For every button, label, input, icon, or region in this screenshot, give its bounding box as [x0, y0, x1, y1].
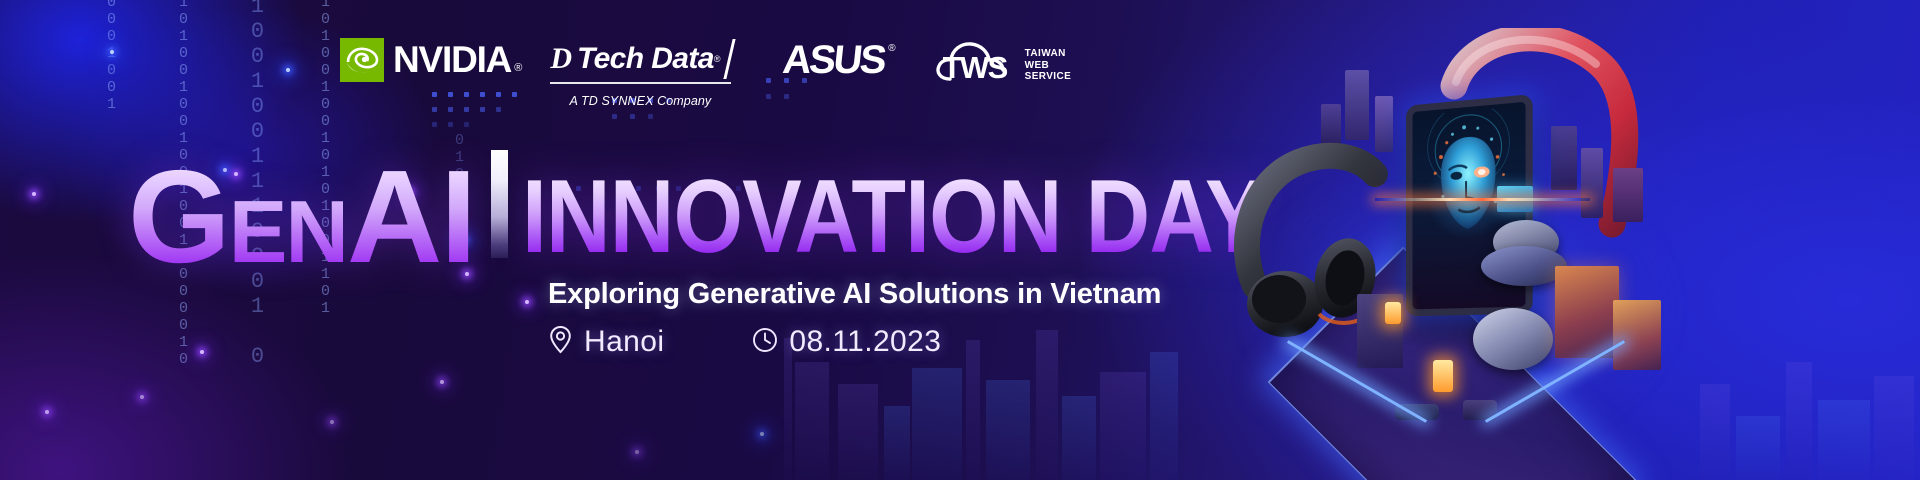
server-rack — [1555, 266, 1619, 358]
event-date: 08.11.2023 — [752, 325, 941, 359]
genai-wordmark: GENAI — [128, 164, 475, 270]
nvidia-wordmark: NVIDIA ® — [393, 40, 522, 80]
tech-data-trademark: ® — [714, 54, 721, 64]
sponsor-logo-row: NVIDIA ® D Tech Data ® A TD SYNNEX Compa… — [340, 38, 1071, 108]
asus-trademark: ® — [888, 43, 895, 54]
event-location: Hanoi — [548, 325, 664, 359]
event-location-text: Hanoi — [584, 325, 664, 359]
event-meta-row: Hanoi 08.11.2023 — [548, 325, 941, 359]
sparkle-decoration — [760, 432, 764, 436]
nvidia-trademark: ® — [514, 62, 522, 74]
ai-eye-beam — [1375, 198, 1590, 201]
tws-tagline: TAIWAN WEB SERVICE — [1025, 49, 1072, 83]
tws-tagline-line: TAIWAN — [1025, 49, 1072, 60]
nvidia-eye-icon — [340, 38, 384, 82]
isometric-ai-city-illustration — [1225, 8, 1695, 478]
asus-logo[interactable]: ASUS ® — [783, 38, 884, 82]
tech-data-logo[interactable]: D Tech Data ® A TD SYNNEX Company — [550, 38, 730, 108]
dome-knob — [1473, 308, 1553, 370]
asus-wordmark: ASUS — [780, 39, 886, 81]
sparkle-decoration — [110, 50, 114, 54]
city-block — [1581, 148, 1603, 218]
page-title: GENAI INNOVATION DAY — [128, 150, 1384, 270]
nvidia-wordmark-text: NVIDIA — [393, 40, 511, 80]
tech-data-monogram: D — [550, 43, 571, 75]
tech-data-rule — [550, 82, 730, 84]
tws-wordmark: TWS — [943, 52, 1007, 84]
page-subtitle: Exploring Generative AI Solutions in Vie… — [548, 278, 1161, 311]
clock-icon — [752, 327, 778, 358]
genai-en: EN — [229, 182, 347, 281]
sparkle-decoration — [286, 68, 290, 72]
sparkle-decoration — [330, 420, 334, 424]
tech-data-tagline: A TD SYNNEX Company — [550, 94, 730, 108]
sparkle-decoration — [45, 410, 49, 414]
tech-data-slash-icon — [723, 39, 735, 79]
nvidia-logo[interactable]: NVIDIA ® — [340, 38, 522, 82]
event-banner: 0001001 1010010010010011000010 100100111… — [0, 0, 1920, 480]
city-block — [1613, 168, 1643, 222]
location-pin-icon — [548, 325, 573, 359]
genai-ai: AI — [347, 143, 475, 290]
sparkle-decoration — [32, 192, 36, 196]
server-rack — [1613, 300, 1661, 370]
genai-g: G — [128, 143, 229, 290]
sparkle-decoration — [440, 380, 444, 384]
tws-tagline-line: WEB — [1025, 61, 1072, 72]
vertical-bar-divider-icon — [491, 150, 508, 258]
city-block — [1551, 126, 1577, 190]
tech-data-wordmark: Tech Data — [577, 43, 714, 75]
sparkle-decoration — [140, 395, 144, 399]
city-block — [1345, 70, 1369, 140]
lamp-light — [1433, 360, 1453, 392]
tws-logo[interactable]: TWS TAIWAN WEB SERVICE — [930, 38, 1072, 86]
headline-main: INNOVATION DAY — [522, 175, 1264, 260]
sparkle-decoration — [635, 450, 639, 454]
binary-rain-column: 0001001 — [104, 0, 119, 154]
tws-tagline-line: SERVICE — [1025, 72, 1072, 83]
sparkle-decoration — [525, 300, 529, 304]
sparkle-decoration — [200, 350, 204, 354]
lamp-light — [1385, 302, 1401, 324]
event-date-text: 08.11.2023 — [789, 325, 941, 359]
